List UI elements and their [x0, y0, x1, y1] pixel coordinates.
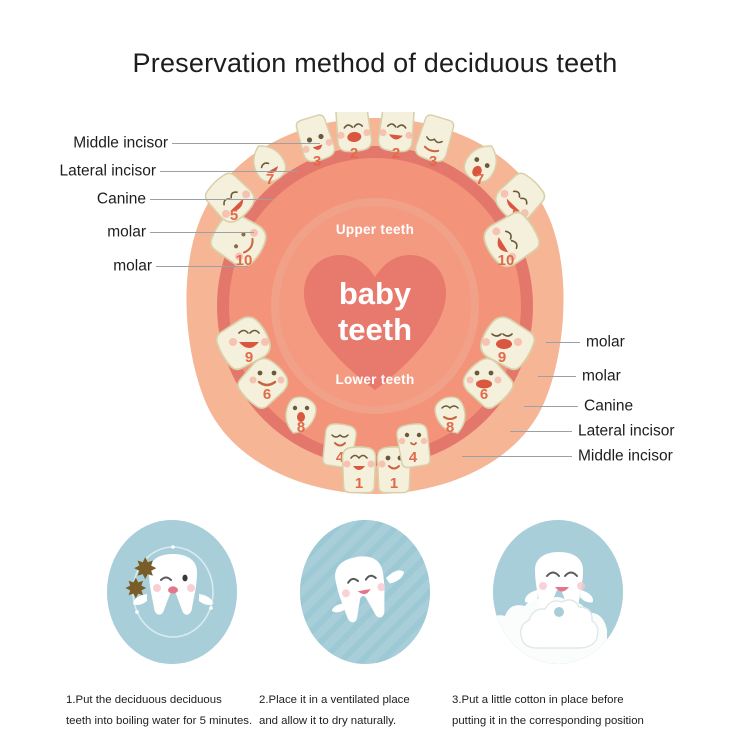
- callout-left-molar-upper: molar: [107, 224, 146, 240]
- tooth-number: 9: [245, 349, 253, 366]
- page-title: Preservation method of deciduous teeth: [0, 48, 750, 79]
- leader-line-right-5: [462, 456, 572, 457]
- tooth-number: 6: [480, 386, 488, 403]
- tooth-number: 3: [429, 153, 437, 170]
- step-3: 3.Put a little cotton in place before pu…: [438, 512, 678, 750]
- leader-line-left-1: [172, 143, 320, 144]
- callout-left-canine: Canine: [97, 191, 146, 207]
- tooth-number: 8: [446, 419, 454, 436]
- tooth-lower-left-middle-incisor-1[interactable]: 1: [343, 447, 376, 493]
- callout-left-middle-incisor: Middle incisor: [73, 135, 168, 151]
- leader-line-right-3: [524, 406, 578, 407]
- tooth-number: 7: [266, 171, 274, 188]
- tooth-number: 3: [313, 153, 321, 170]
- leader-line-right-1: [546, 342, 580, 343]
- tooth-number: 1: [390, 475, 398, 492]
- step-3-caption: 3.Put a little cotton in place before pu…: [452, 690, 678, 732]
- leader-line-left-2: [160, 171, 298, 172]
- upper-teeth-label: Upper teeth: [336, 222, 414, 237]
- leader-line-left-5: [156, 266, 248, 267]
- step-3-caption-line2: putting it in the corresponding position: [452, 711, 678, 732]
- step-2-illustration: [300, 520, 430, 664]
- callout-right-lateral-incisor: Lateral incisor: [578, 423, 675, 439]
- tooth-number: 2: [350, 145, 358, 162]
- callout-left-molar-lower: molar: [113, 258, 152, 274]
- tooth-number: 4: [409, 449, 418, 466]
- leader-line-left-4: [150, 232, 254, 233]
- leader-line-right-2: [538, 376, 576, 377]
- callout-right-molar-upper: molar: [586, 334, 625, 350]
- tooth-number: 2: [392, 145, 400, 162]
- callout-right-molar-lower: molar: [582, 368, 621, 384]
- callout-right-middle-incisor: Middle incisor: [578, 448, 673, 464]
- tooth-number: 5: [230, 207, 238, 224]
- tooth-number: 6: [263, 386, 271, 403]
- callout-left-lateral-incisor: Lateral incisor: [60, 163, 157, 179]
- heart-text-baby: baby: [339, 276, 412, 311]
- tooth-number: 9: [498, 349, 506, 366]
- callout-right-canine: Canine: [584, 398, 633, 414]
- step-1-illustration: [107, 520, 237, 664]
- tooth-number: 10: [498, 252, 515, 269]
- tooth-number: 8: [297, 419, 305, 436]
- tooth-number: 1: [355, 475, 363, 492]
- step-3-caption-line1: 3.Put a little cotton in place before: [452, 690, 678, 711]
- preservation-steps: 1.Put the deciduous deciduous teeth into…: [0, 512, 750, 750]
- tooth-number: 7: [476, 171, 484, 188]
- lower-teeth-label: Lower teeth: [335, 372, 414, 387]
- leader-line-right-4: [510, 431, 572, 432]
- heart-text-teeth: teeth: [338, 312, 412, 347]
- step-3-illustration: [493, 520, 623, 664]
- leader-line-left-3: [150, 199, 274, 200]
